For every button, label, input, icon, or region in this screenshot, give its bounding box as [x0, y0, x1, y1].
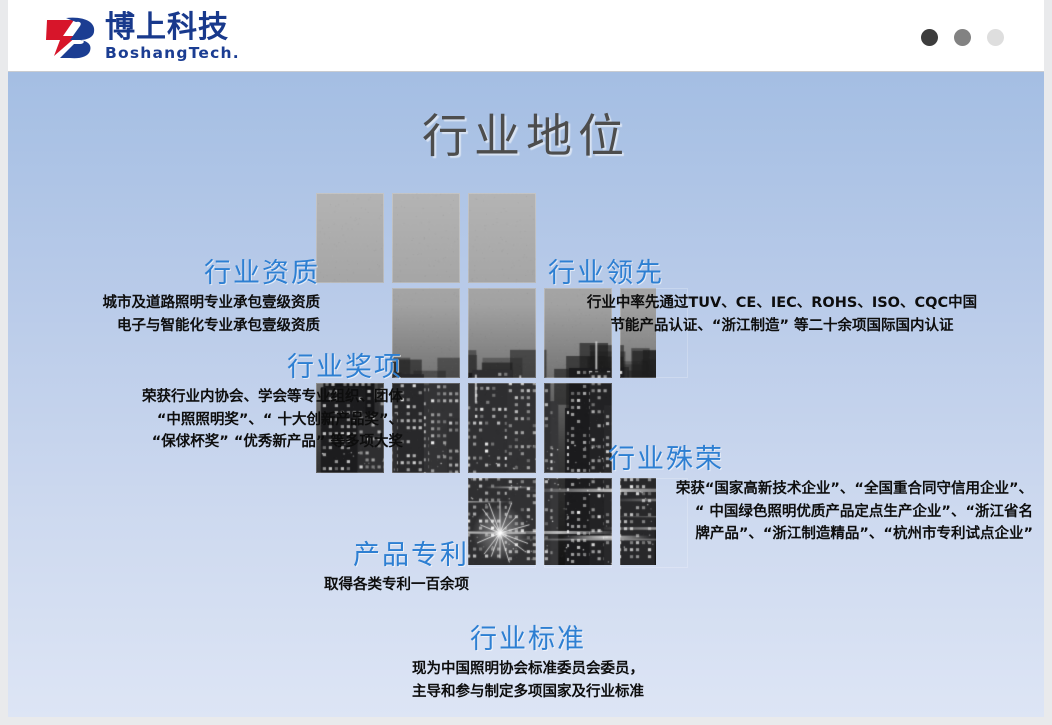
- block-standard: 行业标准 现为中国照明协会标准委员会委员， 主导和参与制定多项国家及行业标准: [338, 624, 718, 703]
- block-qualification: 行业资质 城市及道路照明专业承包壹级资质 电子与智能化专业承包壹级资质: [28, 258, 320, 337]
- block-patent: 产品专利 取得各类专利一百余项: [244, 540, 469, 597]
- mosaic-tile: [544, 383, 612, 473]
- block-honors-heading: 行业殊荣: [608, 444, 1033, 475]
- text-line: 城市及道路照明专业承包壹级资质: [28, 292, 320, 314]
- block-awards-body: 荣获行业内协会、学会等专业组织、团体 “中照照明奖”、“ 十大创新产品奖”、 “…: [88, 386, 403, 453]
- slide-header: 博上科技 BoshangTech.: [8, 0, 1044, 72]
- logo-chinese-name: 博上科技: [105, 13, 240, 43]
- block-patent-body: 取得各类专利一百余项: [244, 574, 469, 596]
- dot-medium-icon: [954, 29, 971, 46]
- presentation-slide: 博上科技 BoshangTech. 行业地位 行业资质 城市及道路照明专业承包壹…: [0, 0, 1052, 725]
- mosaic-tile: [468, 383, 536, 473]
- block-patent-heading: 产品专利: [244, 540, 469, 571]
- text-line: “ 中国绿色照明优质产品定点生产企业”、“浙江省名: [608, 501, 1033, 523]
- block-awards: 行业奖项 荣获行业内协会、学会等专业组织、团体 “中照照明奖”、“ 十大创新产品…: [88, 352, 403, 453]
- block-qualification-body: 城市及道路照明专业承包壹级资质 电子与智能化专业承包壹级资质: [28, 292, 320, 337]
- page-title: 行业地位: [8, 100, 1044, 166]
- block-honors-body: 荣获“国家高新技术企业”、“全国重合同守信用企业”、 “ 中国绿色照明优质产品定…: [608, 478, 1033, 545]
- text-line: 荣获行业内协会、学会等专业组织、团体: [88, 386, 403, 408]
- block-standard-body: 现为中国照明协会标准委员会委员， 主导和参与制定多项国家及行业标准: [338, 658, 718, 703]
- block-awards-heading: 行业奖项: [88, 352, 403, 383]
- block-leading: 行业领先 行业中率先通过TUV、CE、IEC、ROHS、ISO、CQC中国 节能…: [548, 258, 1016, 337]
- block-qualification-heading: 行业资质: [28, 258, 320, 289]
- mosaic-tile: [468, 193, 536, 283]
- logo-english-name: BoshangTech.: [105, 46, 240, 62]
- text-line: “中照照明奖”、“ 十大创新产品奖”、: [88, 409, 403, 431]
- block-leading-body: 行业中率先通过TUV、CE、IEC、ROHS、ISO、CQC中国 节能产品认证、…: [548, 292, 1016, 337]
- boshang-b-mark-icon: [44, 14, 98, 60]
- mosaic-tile: [544, 478, 612, 568]
- company-logo: 博上科技 BoshangTech.: [44, 11, 240, 63]
- dot-dark-icon: [921, 29, 938, 46]
- text-line: 牌产品”、“浙江制造精品”、“杭州市专利试点企业”: [608, 523, 1033, 545]
- block-honors: 行业殊荣 荣获“国家高新技术企业”、“全国重合同守信用企业”、 “ 中国绿色照明…: [608, 444, 1033, 545]
- mosaic-tile: [468, 478, 536, 568]
- text-line: 节能产品认证、“浙江制造” 等二十余项国际国内认证: [548, 315, 1016, 337]
- text-line: 荣获“国家高新技术企业”、“全国重合同守信用企业”、: [608, 478, 1033, 500]
- mosaic-tile: [316, 193, 384, 283]
- slide-canvas: 行业地位 行业资质 城市及道路照明专业承包壹级资质 电子与智能化专业承包壹级资质…: [8, 72, 1044, 717]
- logo-wordmark: 博上科技 BoshangTech.: [105, 13, 240, 62]
- text-line: 主导和参与制定多项国家及行业标准: [338, 681, 718, 703]
- block-leading-heading: 行业领先: [548, 258, 1016, 289]
- text-line: 电子与智能化专业承包壹级资质: [28, 315, 320, 337]
- text-line: 取得各类专利一百余项: [244, 574, 469, 596]
- header-dots-group: [921, 29, 1004, 46]
- text-line: “保俅杯奖” “优秀新产品” 等多项大奖: [88, 431, 403, 453]
- block-standard-heading: 行业标准: [338, 624, 718, 655]
- mosaic-tile: [392, 193, 460, 283]
- text-line: 行业中率先通过TUV、CE、IEC、ROHS、ISO、CQC中国: [548, 292, 1016, 314]
- text-line: 现为中国照明协会标准委员会委员，: [338, 658, 718, 680]
- dot-light-icon: [987, 29, 1004, 46]
- mosaic-tile: [468, 288, 536, 378]
